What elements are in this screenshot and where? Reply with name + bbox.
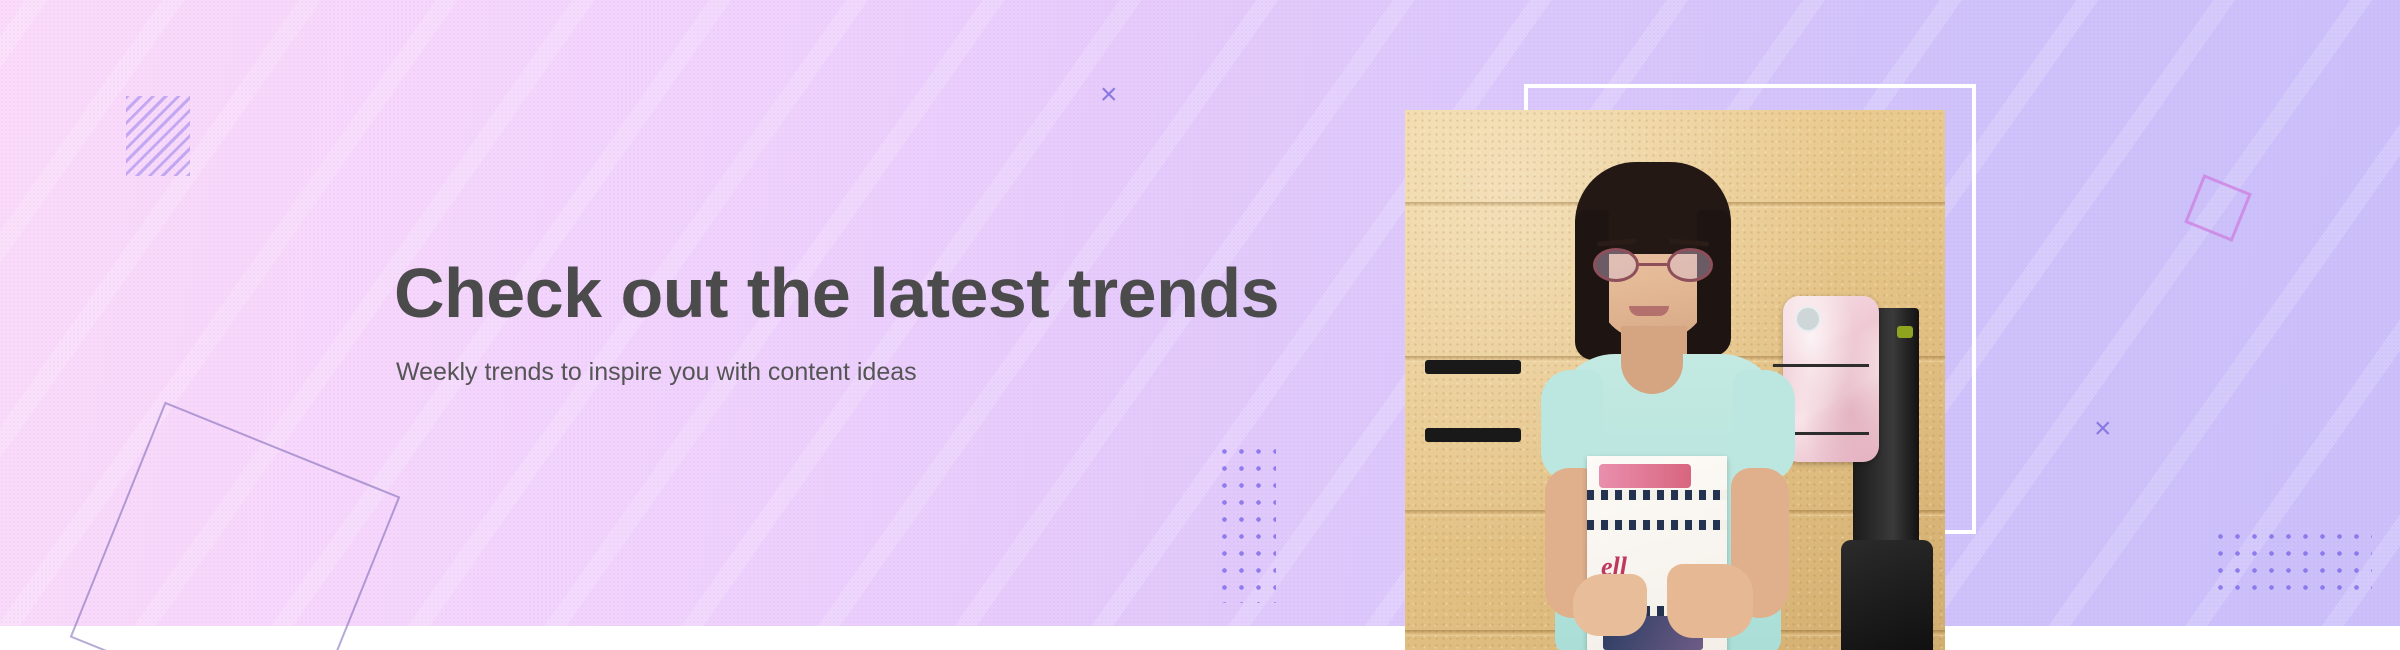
subject-glasses [1593,248,1713,282]
phone-stand-base [1841,540,1933,650]
glasses-lens-left [1593,248,1639,282]
hero-photo: ell [1405,110,1945,650]
glasses-bridge [1639,263,1667,266]
magazine-stripe-band [1587,490,1727,500]
magazine-pink-block [1599,464,1691,488]
subject-hair-left [1575,210,1609,360]
glasses-lens-right [1667,248,1713,282]
page-subtitle: Weekly trends to inspire you with conten… [396,358,1279,387]
magazine-stripe-band [1587,520,1727,530]
subject-sleeve-right [1733,370,1795,482]
dot-grid-decoration-right [2212,528,2372,590]
hero-text-block: Check out the latest trends Weekly trend… [394,258,1279,387]
page-title: Check out the latest trends [394,258,1279,328]
subject-hand-left [1573,574,1647,636]
subject-mouth [1629,306,1669,316]
trends-hero-banner: × × [0,0,2400,650]
dot-grid-decoration-center [1216,443,1276,603]
subject-hair-right [1697,210,1731,356]
stand-clip [1425,428,1521,442]
stand-clip [1425,360,1521,374]
subject-hand-right [1667,564,1753,638]
x-mark-icon: × [1100,80,1118,110]
stand-highlight [1897,326,1913,338]
x-mark-icon: × [2094,414,2112,444]
photo-subject-person: ell [1517,156,1817,650]
hatched-square-decoration [126,96,190,176]
